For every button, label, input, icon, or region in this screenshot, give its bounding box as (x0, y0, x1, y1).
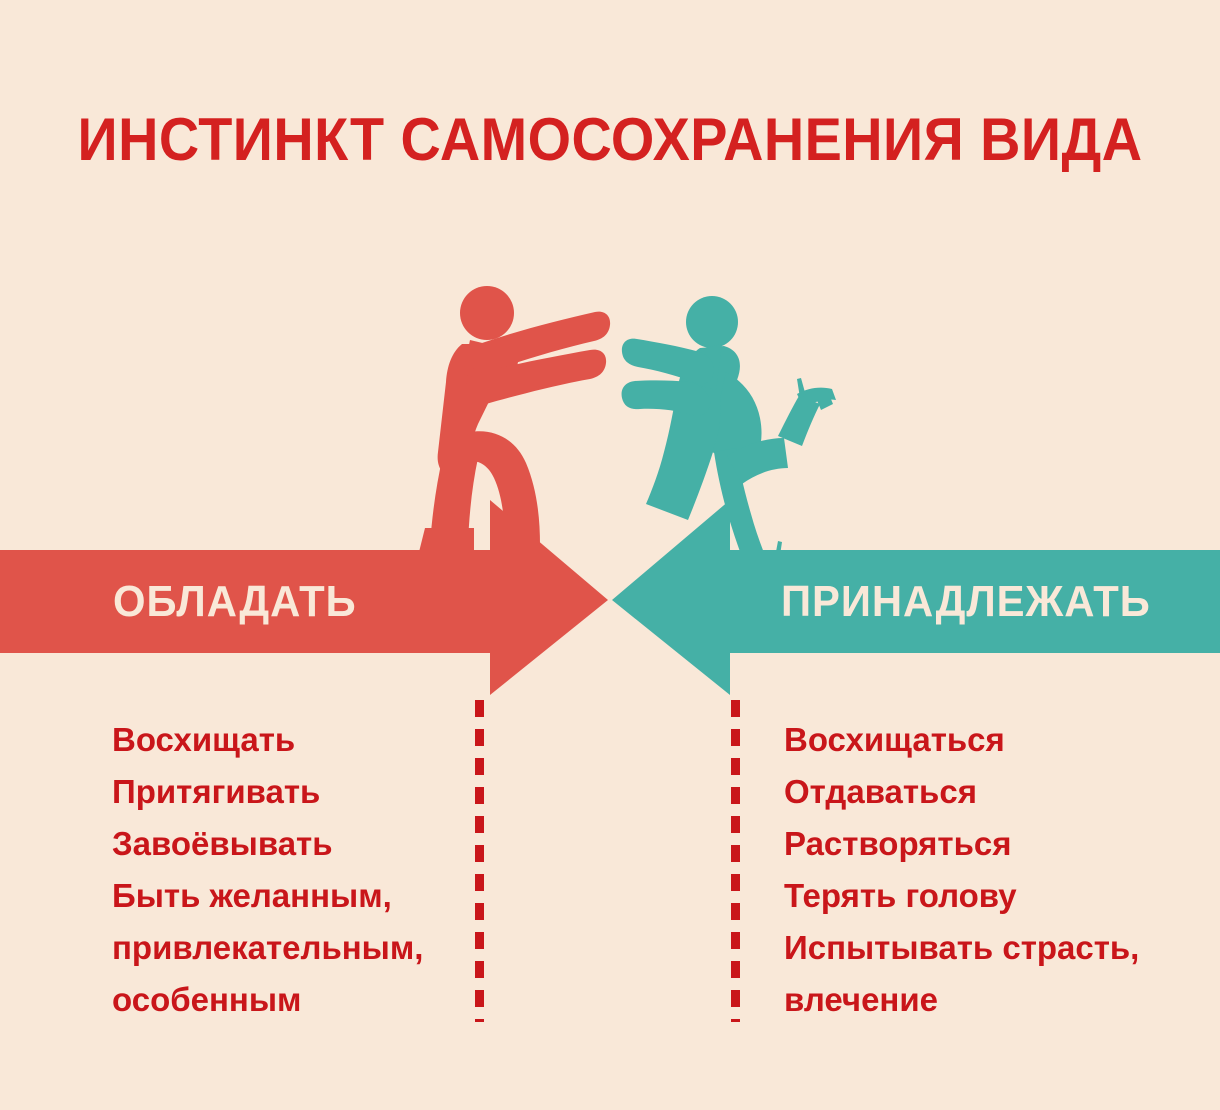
word-list-possess: Восхищать Притягивать Завоёвывать Быть ж… (112, 714, 472, 1026)
arrow-label-possess: ОБЛАДАТЬ (113, 580, 357, 624)
list-item: Завоёвывать (112, 818, 472, 870)
infographic-poster: ИНСТИНКТ САМОСОХРАНЕНИЯ ВИДА (0, 0, 1220, 1110)
list-item: Восхищать (112, 714, 472, 766)
list-item: Терять голову (784, 870, 1204, 922)
list-item: Восхищаться (784, 714, 1204, 766)
word-list-belong: Восхищаться Отдаваться Растворяться Теря… (784, 714, 1204, 1026)
list-item: Отдаваться (784, 766, 1204, 818)
list-item: Испытывать страсть, влечение (784, 922, 1204, 1026)
list-item: Притягивать (112, 766, 472, 818)
list-item: Быть желанным, привлекательным, особенны… (112, 870, 472, 1026)
page-title: ИНСТИНКТ САМОСОХРАНЕНИЯ ВИДА (43, 108, 1178, 172)
divider-dashed-left (475, 700, 484, 1022)
divider-dashed-right (731, 700, 740, 1022)
arrow-label-belong: ПРИНАДЛЕЖАТЬ (781, 580, 1151, 624)
list-item: Растворяться (784, 818, 1204, 870)
